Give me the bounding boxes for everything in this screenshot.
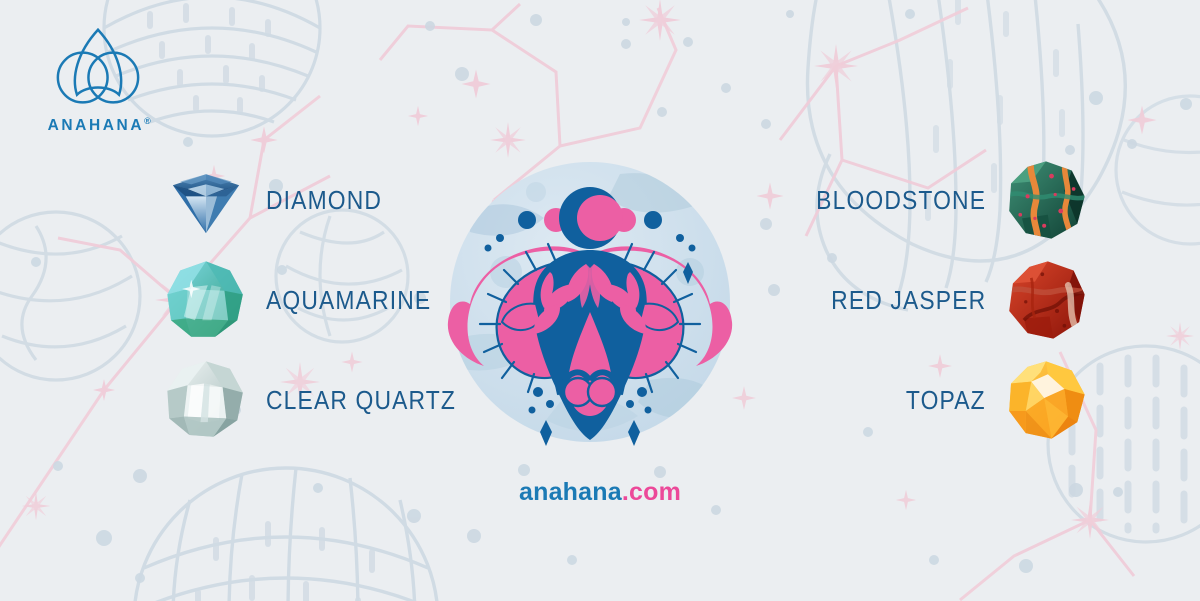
gem-column-right: BLOODSTONE [762,150,1092,450]
red-jasper-gem-icon [1000,254,1092,346]
gem-row-bloodstone[interactable]: BLOODSTONE [762,150,1092,250]
bloodstone-gem-icon [1000,154,1092,246]
logo-wordmark: ANAHANA® [38,116,163,135]
anahana-logo[interactable]: ANAHANA® [38,24,163,139]
topaz-gem-icon [1000,354,1092,446]
gem-row-topaz[interactable]: TOPAZ [762,350,1092,450]
gem-label-diamond: DIAMOND [266,185,382,216]
footer-site-tld: .com [622,478,681,506]
gem-label-topaz: TOPAZ [906,385,986,416]
planet-outline-left [0,212,140,380]
footer-website[interactable]: anahana.com [0,478,1200,507]
clear-quartz-gem-icon [160,354,252,446]
gem-label-aquamarine: AQUAMARINE [266,285,431,316]
gem-label-red-jasper: RED JASPER [831,285,986,316]
footer-site-name: anahana [519,478,622,506]
gem-row-red-jasper[interactable]: RED JASPER [762,250,1092,350]
diamond-gem-icon [160,154,252,246]
planet-outline-rightmid [1116,96,1200,244]
gem-label-bloodstone: BLOODSTONE [816,185,986,216]
constellation-stars-topcenter [408,0,690,165]
triquetra-icon [50,24,146,110]
infographic-canvas: ANAHANA® [0,0,1200,601]
aries-ram-zodiac-icon [440,152,740,452]
aquamarine-gem-icon [160,254,252,346]
gem-label-clear-quartz: CLEAR QUARTZ [266,385,456,416]
